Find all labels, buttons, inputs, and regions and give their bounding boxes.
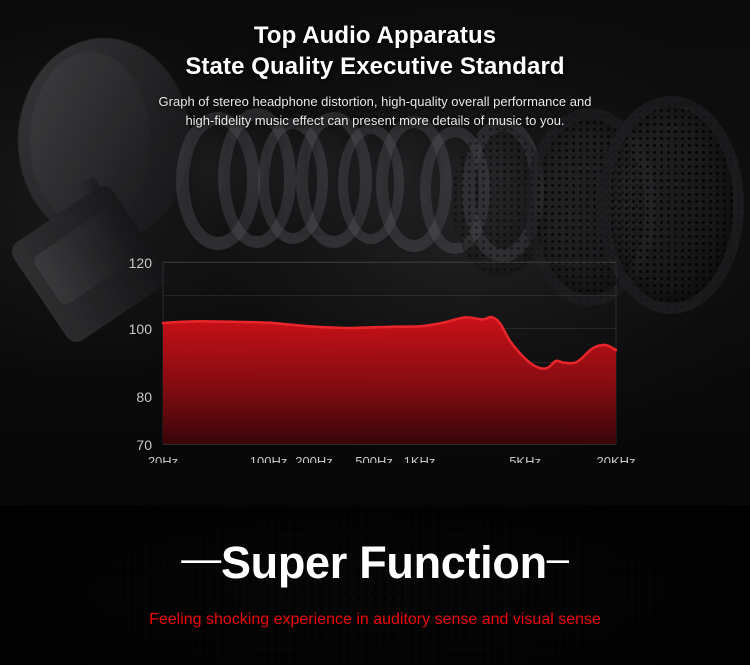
hero-description-line-1: Graph of stereo headphone distortion, hi…	[0, 92, 750, 111]
driver-ring-5-icon	[338, 124, 404, 244]
hero-title-line-2: State Quality Executive Standard	[0, 51, 750, 82]
headband-stem-icon	[73, 176, 123, 250]
y-axis-tick-label: 80	[136, 389, 152, 405]
super-function-banner: —Super Function– Feeling shocking experi…	[0, 505, 750, 665]
driver-ring-4-icon	[296, 112, 372, 248]
hero-title-line-1: Top Audio Apparatus	[0, 20, 750, 51]
x-axis-tick-label: 5KHz	[509, 454, 541, 463]
hero-description: Graph of stereo headphone distortion, hi…	[0, 92, 750, 130]
banner-title: —Super Function–	[0, 532, 750, 590]
hero-description-line-2: high-fidelity music effect can present m…	[0, 111, 750, 130]
x-axis-tick-label: 20Hz	[148, 454, 178, 463]
driver-ring-7-icon	[420, 126, 490, 254]
frequency-response-chart: 120100807020Hz100Hz200Hz500Hz1KHz5KHz20K…	[0, 248, 750, 463]
product-detail-page: Top Audio Apparatus State Quality Execut…	[0, 0, 750, 665]
driver-ring-3-icon	[258, 118, 328, 244]
y-axis-tick-label: 100	[129, 321, 153, 337]
banner-subtitle: Feeling shocking experience in auditory …	[0, 610, 750, 630]
driver-ring-1-icon	[176, 112, 260, 250]
frequency-response-plot: 120100807020Hz100Hz200Hz500Hz1KHz5KHz20K…	[0, 248, 750, 463]
banner-dash-right: –	[547, 532, 569, 586]
x-axis-tick-label: 200Hz	[295, 454, 333, 463]
x-axis-tick-label: 1KHz	[404, 454, 436, 463]
hero-heading: Top Audio Apparatus State Quality Execut…	[0, 20, 750, 82]
driver-ring-6-icon	[376, 116, 452, 252]
x-axis-tick-label: 100Hz	[250, 454, 288, 463]
driver-ring-8-icon	[462, 118, 544, 262]
y-axis-tick-label: 70	[136, 437, 152, 453]
x-axis-tick-label: 20KHz	[596, 454, 635, 463]
response-area-fill	[163, 317, 616, 444]
x-axis-tick-label: 500Hz	[355, 454, 393, 463]
y-axis-tick-label: 120	[129, 255, 153, 271]
hero-section: Top Audio Apparatus State Quality Execut…	[0, 0, 750, 505]
banner-dash-left: —	[181, 532, 221, 586]
banner-title-text: Super Function	[221, 537, 547, 588]
